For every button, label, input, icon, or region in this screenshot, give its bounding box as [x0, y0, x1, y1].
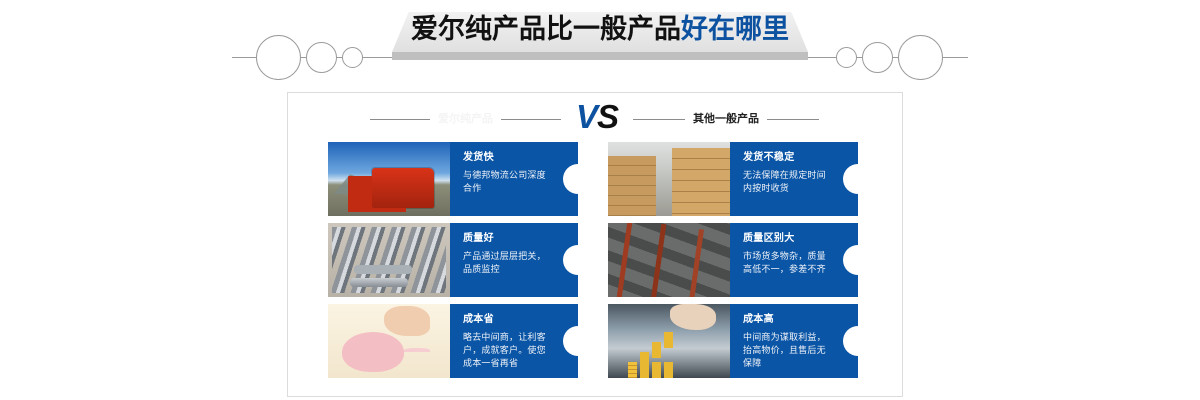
card-description: 略去中间商，让利客户，成就客户。使您成本一省再省 — [463, 331, 550, 370]
card-text-panel: 发货不稳定 无法保障在规定时间内按时收货 — [730, 142, 858, 216]
card-text-panel: 成本省 略去中间商，让利客户，成就客户。使您成本一省再省 — [450, 304, 578, 378]
comparison-grid: 发货快 与德邦物流公司深度合作 发货不稳定 无法保障在规定时间内按时收货 质量好 — [328, 142, 862, 382]
drawback-card[interactable]: 质量区别大 市场货多物杂，质量高低不一，参差不齐 — [608, 223, 858, 297]
right-column-label-text: 其他一般产品 — [693, 108, 759, 130]
plinth-front-face — [392, 52, 808, 60]
right-label-rule-b — [767, 119, 819, 120]
card-image-piggy-bank — [328, 304, 450, 378]
card-title: 成本高 — [743, 313, 830, 326]
decorative-circle-right-small — [836, 47, 857, 68]
right-column-label: 其他一般产品 — [633, 108, 847, 130]
advantage-card[interactable]: 发货快 与德邦物流公司深度合作 — [328, 142, 578, 216]
comparison-row: 发货快 与德邦物流公司深度合作 发货不稳定 无法保障在规定时间内按时收货 — [328, 142, 862, 216]
truck-icon — [328, 142, 450, 216]
decorative-circle-right-medium — [862, 42, 893, 73]
drawback-card[interactable]: 成本高 中间商为谋取利益，抬高物价，且售后无保障 — [608, 304, 858, 378]
card-text-panel: 成本高 中间商为谋取利益，抬高物价，且售后无保障 — [730, 304, 858, 378]
card-description: 市场货多物杂，质量高低不一，参差不齐 — [743, 250, 830, 276]
page-header: 爱尔纯产品比一般产品好在哪里 — [0, 0, 1200, 86]
versus-header-bar: 爱尔纯产品 VS 其他一般产品 — [287, 96, 903, 142]
card-description: 与德邦物流公司深度合作 — [463, 169, 550, 195]
coin-stacks-icon — [608, 304, 730, 378]
advantage-card[interactable]: 质量好 产品通过层层把关，品质监控 — [328, 223, 578, 297]
card-notch-shape — [563, 326, 578, 356]
versus-letter-s: S — [597, 98, 618, 135]
page-title-accent: 好在哪里 — [681, 14, 789, 44]
card-image-coin-stacks — [608, 304, 730, 378]
right-label-rule-a — [633, 119, 685, 120]
card-notch-shape — [843, 326, 858, 356]
advantage-card[interactable]: 成本省 略去中间商，让利客户，成就客户。使您成本一省再省 — [328, 304, 578, 378]
card-description: 无法保障在规定时间内按时收货 — [743, 169, 830, 195]
left-label-rule-a — [370, 119, 430, 120]
card-notch-shape — [843, 164, 858, 194]
card-notch-shape — [563, 245, 578, 275]
card-notch-shape — [843, 245, 858, 275]
comparison-row: 质量好 产品通过层层把关，品质监控 质量区别大 市场货多物杂，质量高低不一，参差… — [328, 223, 862, 297]
warehouse-icon — [608, 142, 730, 216]
left-label-rule-b — [501, 119, 561, 120]
card-text-panel: 发货快 与德邦物流公司深度合作 — [450, 142, 578, 216]
card-text-panel: 质量好 产品通过层层把关，品质监控 — [450, 223, 578, 297]
decorative-circle-left-small — [342, 47, 363, 68]
versus-mark: VS — [565, 96, 629, 138]
metal-pipes-icon — [328, 223, 450, 297]
card-title: 发货不稳定 — [743, 151, 830, 164]
card-title: 质量好 — [463, 232, 550, 245]
card-image-warehouse — [608, 142, 730, 216]
comparison-row: 成本省 略去中间商，让利客户，成就客户。使您成本一省再省 成本高 中间商为谋取利… — [328, 304, 862, 378]
piggy-bank-icon — [328, 304, 450, 378]
drawback-card[interactable]: 发货不稳定 无法保障在规定时间内按时收货 — [608, 142, 858, 216]
card-text-panel: 质量区别大 市场货多物杂，质量高低不一，参差不齐 — [730, 223, 858, 297]
card-image-dark-pipes — [608, 223, 730, 297]
decorative-circle-left-medium — [306, 42, 337, 73]
card-title: 发货快 — [463, 151, 550, 164]
dark-pipes-icon — [608, 223, 730, 297]
versus-letter-v: V — [576, 98, 597, 135]
left-column-label-text: 爱尔纯产品 — [438, 108, 493, 130]
left-column-label: 爱尔纯产品 — [347, 108, 561, 130]
page-title-main: 爱尔纯产品比一般产品 — [411, 14, 681, 44]
card-notch-shape — [563, 164, 578, 194]
card-description: 产品通过层层把关，品质监控 — [463, 250, 550, 276]
card-image-truck — [328, 142, 450, 216]
card-description: 中间商为谋取利益，抬高物价，且售后无保障 — [743, 331, 830, 370]
card-image-metal-parts — [328, 223, 450, 297]
page-title: 爱尔纯产品比一般产品好在哪里 — [0, 12, 1200, 46]
card-title: 质量区别大 — [743, 232, 830, 245]
card-title: 成本省 — [463, 313, 550, 326]
